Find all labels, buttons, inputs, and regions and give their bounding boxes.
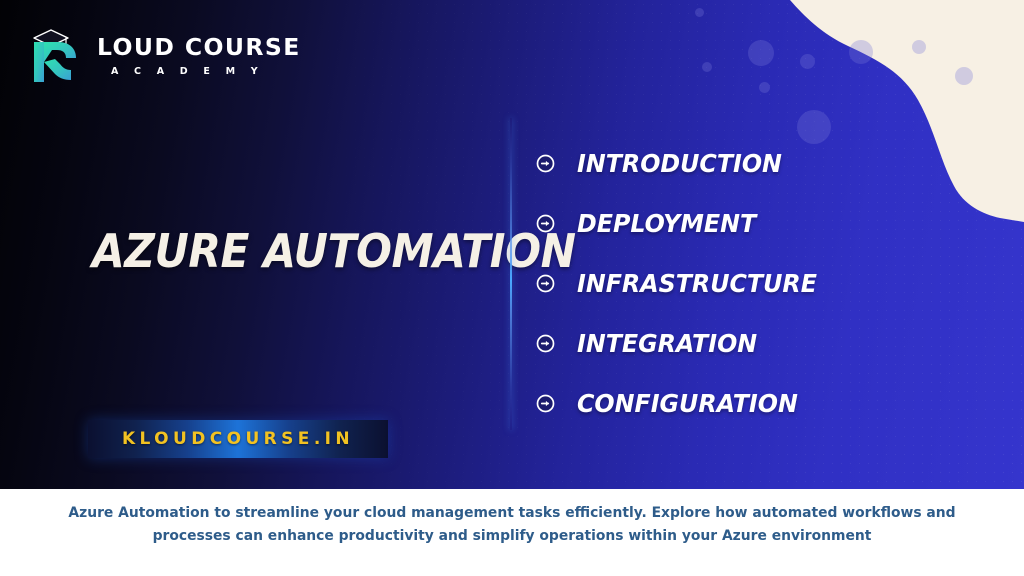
page-title: AZURE AUTOMATION	[92, 228, 576, 274]
kc-graduation-cap-logo-icon	[28, 26, 88, 84]
brand-logo[interactable]: LOUD COURSE A C A D E M Y	[28, 26, 301, 84]
decorative-circle	[702, 62, 712, 72]
arrow-right-circle-icon	[536, 274, 555, 293]
footer-section: Azure Automation to streamline your clou…	[0, 489, 1024, 576]
hero-section: LOUD COURSE A C A D E M Y AZURE AUTOMATI…	[0, 0, 1024, 489]
decorative-circle	[800, 54, 815, 69]
presentation-slide: LOUD COURSE A C A D E M Y AZURE AUTOMATI…	[0, 0, 1024, 576]
brand-name: LOUD COURSE	[97, 36, 301, 60]
topic-label: DEPLOYMENT	[577, 211, 756, 236]
topic-label: INFRASTRUCTURE	[577, 271, 817, 296]
brand-tagline: A C A D E M Y	[111, 67, 301, 77]
topic-list: INTRODUCTION DEPLOYMENT	[536, 133, 830, 433]
arrow-right-circle-icon	[536, 334, 555, 353]
footer-description: Azure Automation to streamline your clou…	[66, 502, 958, 548]
brand-logo-text: LOUD COURSE A C A D E M Y	[97, 36, 301, 76]
topic-list-item[interactable]: DEPLOYMENT	[536, 193, 830, 253]
decorative-circle	[695, 8, 704, 17]
vertical-divider	[510, 118, 512, 430]
topic-label: INTRODUCTION	[577, 151, 782, 176]
website-badge[interactable]: KLOUDCOURSE.IN	[88, 420, 388, 458]
decorative-circle	[849, 40, 873, 64]
arrow-right-circle-icon	[536, 394, 555, 413]
decorative-circle	[759, 82, 770, 93]
arrow-right-circle-icon	[536, 154, 555, 173]
decorative-circle	[748, 40, 774, 66]
topic-list-item[interactable]: INTRODUCTION	[536, 133, 830, 193]
topic-label: CONFIGURATION	[577, 391, 798, 416]
decorative-circle	[955, 67, 973, 85]
arrow-right-circle-icon	[536, 214, 555, 233]
website-badge-label: KLOUDCOURSE.IN	[122, 429, 354, 449]
topic-list-item[interactable]: CONFIGURATION	[536, 373, 830, 433]
decorative-circle	[912, 40, 926, 54]
topic-list-item[interactable]: INFRASTRUCTURE	[536, 253, 830, 313]
topic-label: INTEGRATION	[577, 331, 757, 356]
topic-list-item[interactable]: INTEGRATION	[536, 313, 830, 373]
